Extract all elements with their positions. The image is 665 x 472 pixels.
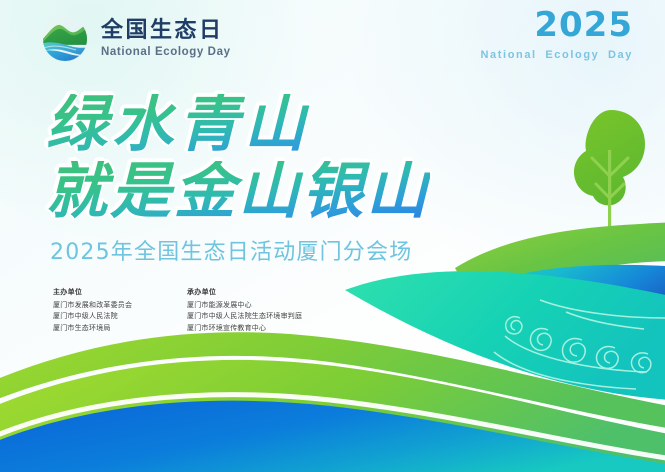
headline-line-2: 就是金山银山 <box>46 161 430 222</box>
brand-logo-block: 全国生态日 National Ecology Day <box>38 12 231 66</box>
poster-canvas: 全国生态日 National Ecology Day 2025 National… <box>0 0 665 472</box>
year-block: 2025 National Ecology Day <box>481 8 633 61</box>
bottom-green-wave-upper <box>0 332 665 430</box>
chinese-cloud-spiral-pattern <box>494 300 665 389</box>
credits-item: 厦门市发展和改革委员会 <box>53 300 171 311</box>
bottom-green-wave-lower <box>0 360 665 472</box>
mountain-water-circle-logo <box>38 12 92 66</box>
credits-item: 厦门市中级人民法院生态环境审判庭 <box>187 311 305 322</box>
organizer-credits: 主办单位 厦门市发展和改革委员会 厦门市中级人民法院 厦门市生态环境局 承办单位… <box>53 287 305 334</box>
year-subtitle: National Ecology Day <box>481 49 633 61</box>
credits-item: 厦门市中级人民法院 <box>53 311 171 322</box>
year-number: 2025 <box>481 8 633 44</box>
credits-item: 厦门市环境宣传教育中心 <box>187 323 305 334</box>
credits-column-organizers: 主办单位 厦门市发展和改革委员会 厦门市中级人民法院 厦门市生态环境局 <box>53 287 171 334</box>
credits-heading: 承办单位 <box>187 287 305 297</box>
credits-item: 厦门市能源发展中心 <box>187 300 305 311</box>
headline-block: 绿水青山 就是金山银山 <box>46 94 430 222</box>
logo-title-en: National Ecology Day <box>101 47 231 59</box>
credits-item: 厦门市生态环境局 <box>53 323 171 334</box>
logo-title-cn: 全国生态日 <box>101 20 231 42</box>
brand-logo-text: 全国生态日 National Ecology Day <box>101 20 231 59</box>
bottom-white-separator <box>0 395 665 460</box>
headline-line-1: 绿水青山 <box>46 94 430 155</box>
credits-column-co-organizers: 承办单位 厦门市能源发展中心 厦门市中级人民法院生态环境审判庭 厦门市环境宣传教… <box>187 287 305 334</box>
credits-heading: 主办单位 <box>53 287 171 297</box>
teal-cloud-ribbon <box>345 271 665 400</box>
bottom-blue-wave <box>0 401 665 472</box>
event-subtitle: 2025年全国生态日活动厦门分会场 <box>50 234 412 266</box>
